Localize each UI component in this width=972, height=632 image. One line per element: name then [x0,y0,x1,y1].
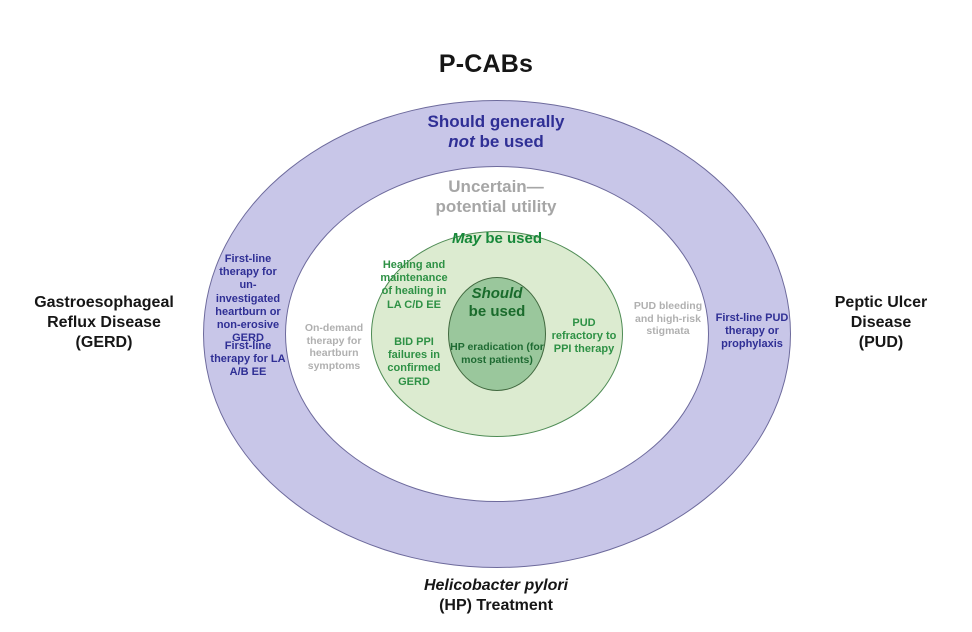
ring-outer-heading-line2: be used [475,132,544,151]
axis-label-gerd: Gastroesophageal Reflux Disease (GERD) [8,293,200,353]
ring-inner-heading-rest: be used [481,230,542,247]
axis-label-gerd-line3: (GERD) [76,334,133,351]
axis-label-pud-line2: Disease [851,314,912,331]
ring-inner-heading: May be used [396,230,598,248]
ring-core-heading-emphasis: Should [472,285,523,302]
axis-label-pud-line3: (PUD) [859,334,903,351]
item-pud-bleeding-stigmata: PUD bleeding and high-risk stigmata [632,300,704,338]
ring-core-heading: Should be used [448,285,546,321]
item-healing-maintenance-la-cd-ee: Healing and maintenance of healing in LA… [376,259,452,312]
axis-label-gerd-line1: Gastroesophageal [34,294,174,311]
ring-outer-heading-emphasis: not [448,132,474,151]
page-title: P-CABs [0,50,972,79]
item-pud-first-line-prophylaxis: First-line PUD therapy or prophylaxis [714,312,790,352]
item-gerd-first-line-la-ab-ee: First-line therapy for LA A/B EE [210,340,286,380]
item-hp-eradication: HP eradication (for most patients) [449,341,545,366]
ring-middle-heading: Uncertain— potential utility [356,177,636,217]
ring-core-heading-line2: be used [469,303,526,320]
ring-middle-heading-line1: Uncertain— [448,177,543,196]
axis-label-hp-treatment: Helicobacter pylori (HP) Treatment [336,576,656,616]
item-bid-ppi-failures-gerd: BID PPI failures in confirmed GERD [376,336,452,389]
ring-middle-heading-line2: potential utility [436,197,557,216]
ring-outer-heading: Should generally not be used [336,112,656,152]
axis-label-pud-line1: Peptic Ulcer [835,294,927,311]
ring-outer-heading-line1: Should generally [428,112,565,131]
axis-label-hp-treatment-line2: (HP) Treatment [439,597,553,614]
axis-label-gerd-line2: Reflux Disease [47,314,161,331]
pcab-ring-diagram: P-CABs Should generally not be used Unce… [0,0,972,632]
item-pud-refractory-ppi: PUD refractory to PPI therapy [548,317,620,357]
item-on-demand-heartburn: On-demand therapy for heartburn symptoms [298,322,370,372]
item-gerd-first-line-uninvestigated: First-line therapy for un-investigated h… [210,253,286,345]
ring-inner-heading-emphasis: May [452,230,481,247]
axis-label-pud: Peptic Ulcer Disease (PUD) [798,293,964,353]
axis-label-hp-species: Helicobacter pylori [424,577,568,594]
